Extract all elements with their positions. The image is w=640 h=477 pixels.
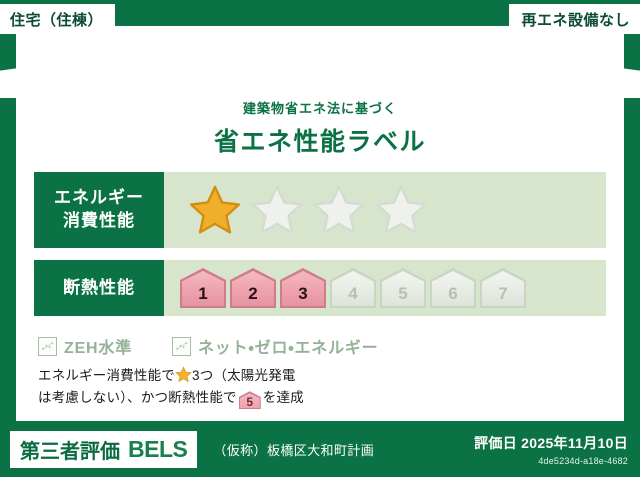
insulation-level-value: 2 xyxy=(248,284,257,304)
footer-bar: 第三者評価 BELS （仮称）板橋区大和町計画 評価日 2025年11月10日 … xyxy=(0,421,640,477)
project-name: （仮称）板橋区大和町計画 xyxy=(213,440,374,459)
renewable-equipment-badge: 再エネ設備なし xyxy=(509,4,640,34)
net-zero-energy-item: ネット・ゼロ・エネルギー xyxy=(172,334,378,358)
building-type-badge: 住宅（住棟） xyxy=(0,4,115,34)
energy-performance-label: 住宅（住棟） 再エネ設備なし 建築物省エネ法に基づく 省エネ性能ラベル エネルギ… xyxy=(0,0,640,477)
energy-label-line2: 消費性能 xyxy=(63,210,135,233)
insulation-level-value: 3 xyxy=(298,284,307,304)
insulation-level-value: 1 xyxy=(198,284,207,304)
bels-jp-text: 第三者評価 xyxy=(20,435,120,464)
evaluation-date: 評価日 2025年11月10日 xyxy=(474,433,628,453)
net-zero-energy-label: ネット・ゼロ・エネルギー xyxy=(198,334,378,358)
insulation-performance-label: 断熱性能 xyxy=(34,260,164,316)
zeh-desc-part2: 3つ（太陽光発電 xyxy=(192,368,296,383)
energy-label-line1: エネルギー xyxy=(54,187,144,210)
insulation-level-badge-empty: 7 xyxy=(480,268,526,308)
scatter-dots-icon xyxy=(40,339,55,354)
zeh-standard-checkbox xyxy=(38,337,57,356)
insulation-level-badge-filled: 1 xyxy=(180,268,226,308)
building-type-text: 住宅（住棟） xyxy=(10,9,103,30)
rating-rows: エネルギー 消費性能 断熱性能 1234567 xyxy=(16,158,624,328)
star-icon-empty xyxy=(312,184,366,236)
zeh-standard-item: ZEH水準 xyxy=(38,334,132,358)
insulation-level-badge-filled: 2 xyxy=(230,268,276,308)
star-icon-empty xyxy=(374,184,428,236)
evaluation-info: 評価日 2025年11月10日 4de5234d-a18e-4682 xyxy=(474,433,628,466)
page-title: 省エネ性能ラベル xyxy=(16,122,624,158)
insulation-level-badge-empty: 5 xyxy=(380,268,426,308)
evaluation-id: 4de5234d-a18e-4682 xyxy=(474,456,628,466)
zeh-desc-part1: エネルギー消費性能で xyxy=(38,368,175,383)
insulation-level-badge-empty: 6 xyxy=(430,268,476,308)
title-block: 建築物省エネ法に基づく 省エネ性能ラベル xyxy=(16,92,624,158)
star-icon xyxy=(175,366,192,383)
insulation-level-badge-empty: 4 xyxy=(330,268,376,308)
insulation-level-value: 6 xyxy=(448,284,457,304)
zeh-desc-part4: を達成 xyxy=(263,390,304,405)
zeh-standard-label: ZEH水準 xyxy=(64,334,132,358)
title-subtitle: 建築物省エネ法に基づく xyxy=(16,98,624,117)
insulation-level-value: 5 xyxy=(398,284,407,304)
insulation-performance-row: 断熱性能 1234567 xyxy=(34,260,606,316)
insulation-level-value: 4 xyxy=(348,284,357,304)
insulation-level-badge-filled: 3 xyxy=(280,268,326,308)
insulation-level-value: 7 xyxy=(498,284,507,304)
bels-logo: 第三者評価 BELS xyxy=(10,431,197,468)
zeh-checkbox-row: ZEH水準 ネット・ゼロ・エネルギー xyxy=(38,334,604,358)
scatter-dots-icon xyxy=(174,339,189,354)
renewable-equipment-text: 再エネ設備なし xyxy=(521,9,630,30)
label-content: 建築物省エネ法に基づく 省エネ性能ラベル エネルギー 消費性能 断熱性能 123… xyxy=(16,92,624,421)
zeh-description: エネルギー消費性能で3つ（太陽光発電 は考慮しない）、かつ断熱性能で5を達成 xyxy=(38,365,604,410)
star-icon-filled xyxy=(188,184,242,236)
insulation-label-line1: 断熱性能 xyxy=(63,277,135,300)
bels-en-text: BELS xyxy=(128,436,187,463)
net-zero-energy-checkbox xyxy=(172,337,191,356)
zeh-desc-part3: は考慮しない）、かつ断熱性能で xyxy=(38,390,237,405)
insulation-level-scale: 1234567 xyxy=(164,260,606,316)
insulation-level-inline-badge: 5 xyxy=(239,391,261,409)
energy-performance-label: エネルギー 消費性能 xyxy=(34,172,164,248)
insulation-level-inline-value: 5 xyxy=(246,395,253,409)
energy-performance-row: エネルギー 消費性能 xyxy=(34,172,606,248)
star-rating xyxy=(164,172,606,248)
zeh-section: ZEH水準 ネット・ゼロ・エネルギー xyxy=(16,328,624,410)
star-icon-empty xyxy=(250,184,304,236)
